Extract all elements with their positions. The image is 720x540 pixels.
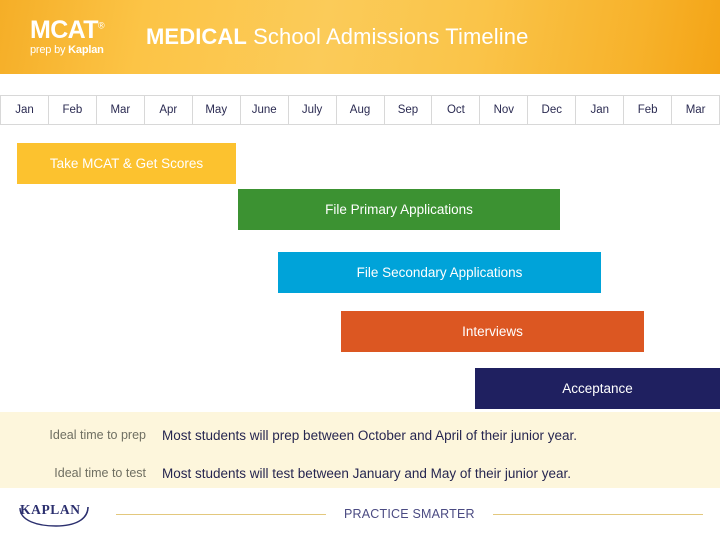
mcat-kaplan-logo: MCAT® prep by Kaplan bbox=[30, 18, 120, 56]
month-cell-6[interactable]: July bbox=[289, 96, 337, 124]
page-header: MCAT® prep by Kaplan MEDICAL School Admi… bbox=[0, 0, 720, 74]
month-label: Feb bbox=[62, 104, 82, 116]
month-cell-7[interactable]: Aug bbox=[337, 96, 385, 124]
month-cell-8[interactable]: Sep bbox=[385, 96, 433, 124]
page-title-light: School Admissions Timeline bbox=[247, 24, 529, 49]
timeline-bar[interactable]: File Primary Applications bbox=[238, 189, 560, 230]
page-footer: KAPLAN PRACTICE SMARTER bbox=[0, 488, 720, 540]
page-title: MEDICAL School Admissions Timeline bbox=[146, 24, 528, 50]
month-label: Aug bbox=[350, 104, 370, 116]
month-label: Feb bbox=[638, 104, 658, 116]
month-cell-11[interactable]: Dec bbox=[528, 96, 576, 124]
timeline-bar-label: Interviews bbox=[462, 324, 523, 339]
note-label: Ideal time to prep bbox=[0, 428, 162, 442]
logo-subtitle-brand: Kaplan bbox=[68, 44, 103, 56]
kaplan-logo: KAPLAN bbox=[18, 499, 94, 529]
timeline-bar-label: File Secondary Applications bbox=[357, 265, 523, 280]
footer-tagline: PRACTICE SMARTER bbox=[344, 507, 475, 521]
timeline-chart: Take MCAT & Get ScoresFile Primary Appli… bbox=[0, 125, 720, 412]
registered-trademark-icon: ® bbox=[98, 21, 105, 31]
footer-divider-left bbox=[116, 514, 326, 515]
timeline-bar[interactable]: File Secondary Applications bbox=[278, 252, 601, 293]
month-label: Mar bbox=[110, 104, 130, 116]
kaplan-wordmark: KAPLAN bbox=[20, 502, 81, 518]
month-label: Dec bbox=[542, 104, 562, 116]
month-label: Jan bbox=[15, 104, 34, 116]
month-cell-2[interactable]: Mar bbox=[97, 96, 145, 124]
month-scale: JanFebMarAprMayJuneJulyAugSepOctNovDecJa… bbox=[0, 95, 720, 125]
month-label: May bbox=[205, 104, 227, 116]
month-cell-9[interactable]: Oct bbox=[432, 96, 480, 124]
month-label: Jan bbox=[590, 104, 609, 116]
month-label: Mar bbox=[686, 104, 706, 116]
timeline-bar-label: Take MCAT & Get Scores bbox=[50, 156, 203, 171]
month-cell-5[interactable]: June bbox=[241, 96, 289, 124]
month-cell-0[interactable]: Jan bbox=[0, 96, 49, 124]
note-row: Ideal time to prepMost students will pre… bbox=[0, 420, 720, 450]
month-cell-14[interactable]: Mar bbox=[672, 96, 720, 124]
logo-wordmark-text: MCAT bbox=[30, 16, 98, 44]
note-text: Most students will test between January … bbox=[162, 466, 571, 481]
month-label: June bbox=[252, 104, 277, 116]
page-title-strong: MEDICAL bbox=[146, 24, 247, 49]
notes-panel: Ideal time to prepMost students will pre… bbox=[0, 412, 720, 488]
note-row: Ideal time to testMost students will tes… bbox=[0, 458, 720, 488]
timeline-bar[interactable]: Acceptance bbox=[475, 368, 720, 409]
logo-subtitle-prefix: prep by bbox=[30, 44, 68, 56]
month-cell-1[interactable]: Feb bbox=[49, 96, 97, 124]
month-cell-4[interactable]: May bbox=[193, 96, 241, 124]
note-label: Ideal time to test bbox=[0, 466, 162, 480]
month-label: July bbox=[302, 104, 322, 116]
timeline-bar-label: File Primary Applications bbox=[325, 202, 473, 217]
timeline-bar-label: Acceptance bbox=[562, 381, 633, 396]
month-label: Oct bbox=[447, 104, 465, 116]
timeline-bar[interactable]: Interviews bbox=[341, 311, 644, 352]
month-cell-13[interactable]: Feb bbox=[624, 96, 672, 124]
timeline-bar[interactable]: Take MCAT & Get Scores bbox=[17, 143, 236, 184]
logo-wordmark: MCAT® bbox=[30, 18, 105, 43]
month-cell-10[interactable]: Nov bbox=[480, 96, 528, 124]
month-label: Nov bbox=[494, 104, 514, 116]
logo-subtitle: prep by Kaplan bbox=[30, 45, 120, 56]
month-label: Apr bbox=[159, 104, 177, 116]
note-text: Most students will prep between October … bbox=[162, 428, 577, 443]
footer-divider-right bbox=[493, 514, 703, 515]
month-cell-3[interactable]: Apr bbox=[145, 96, 193, 124]
month-cell-12[interactable]: Jan bbox=[576, 96, 624, 124]
month-label: Sep bbox=[398, 104, 418, 116]
